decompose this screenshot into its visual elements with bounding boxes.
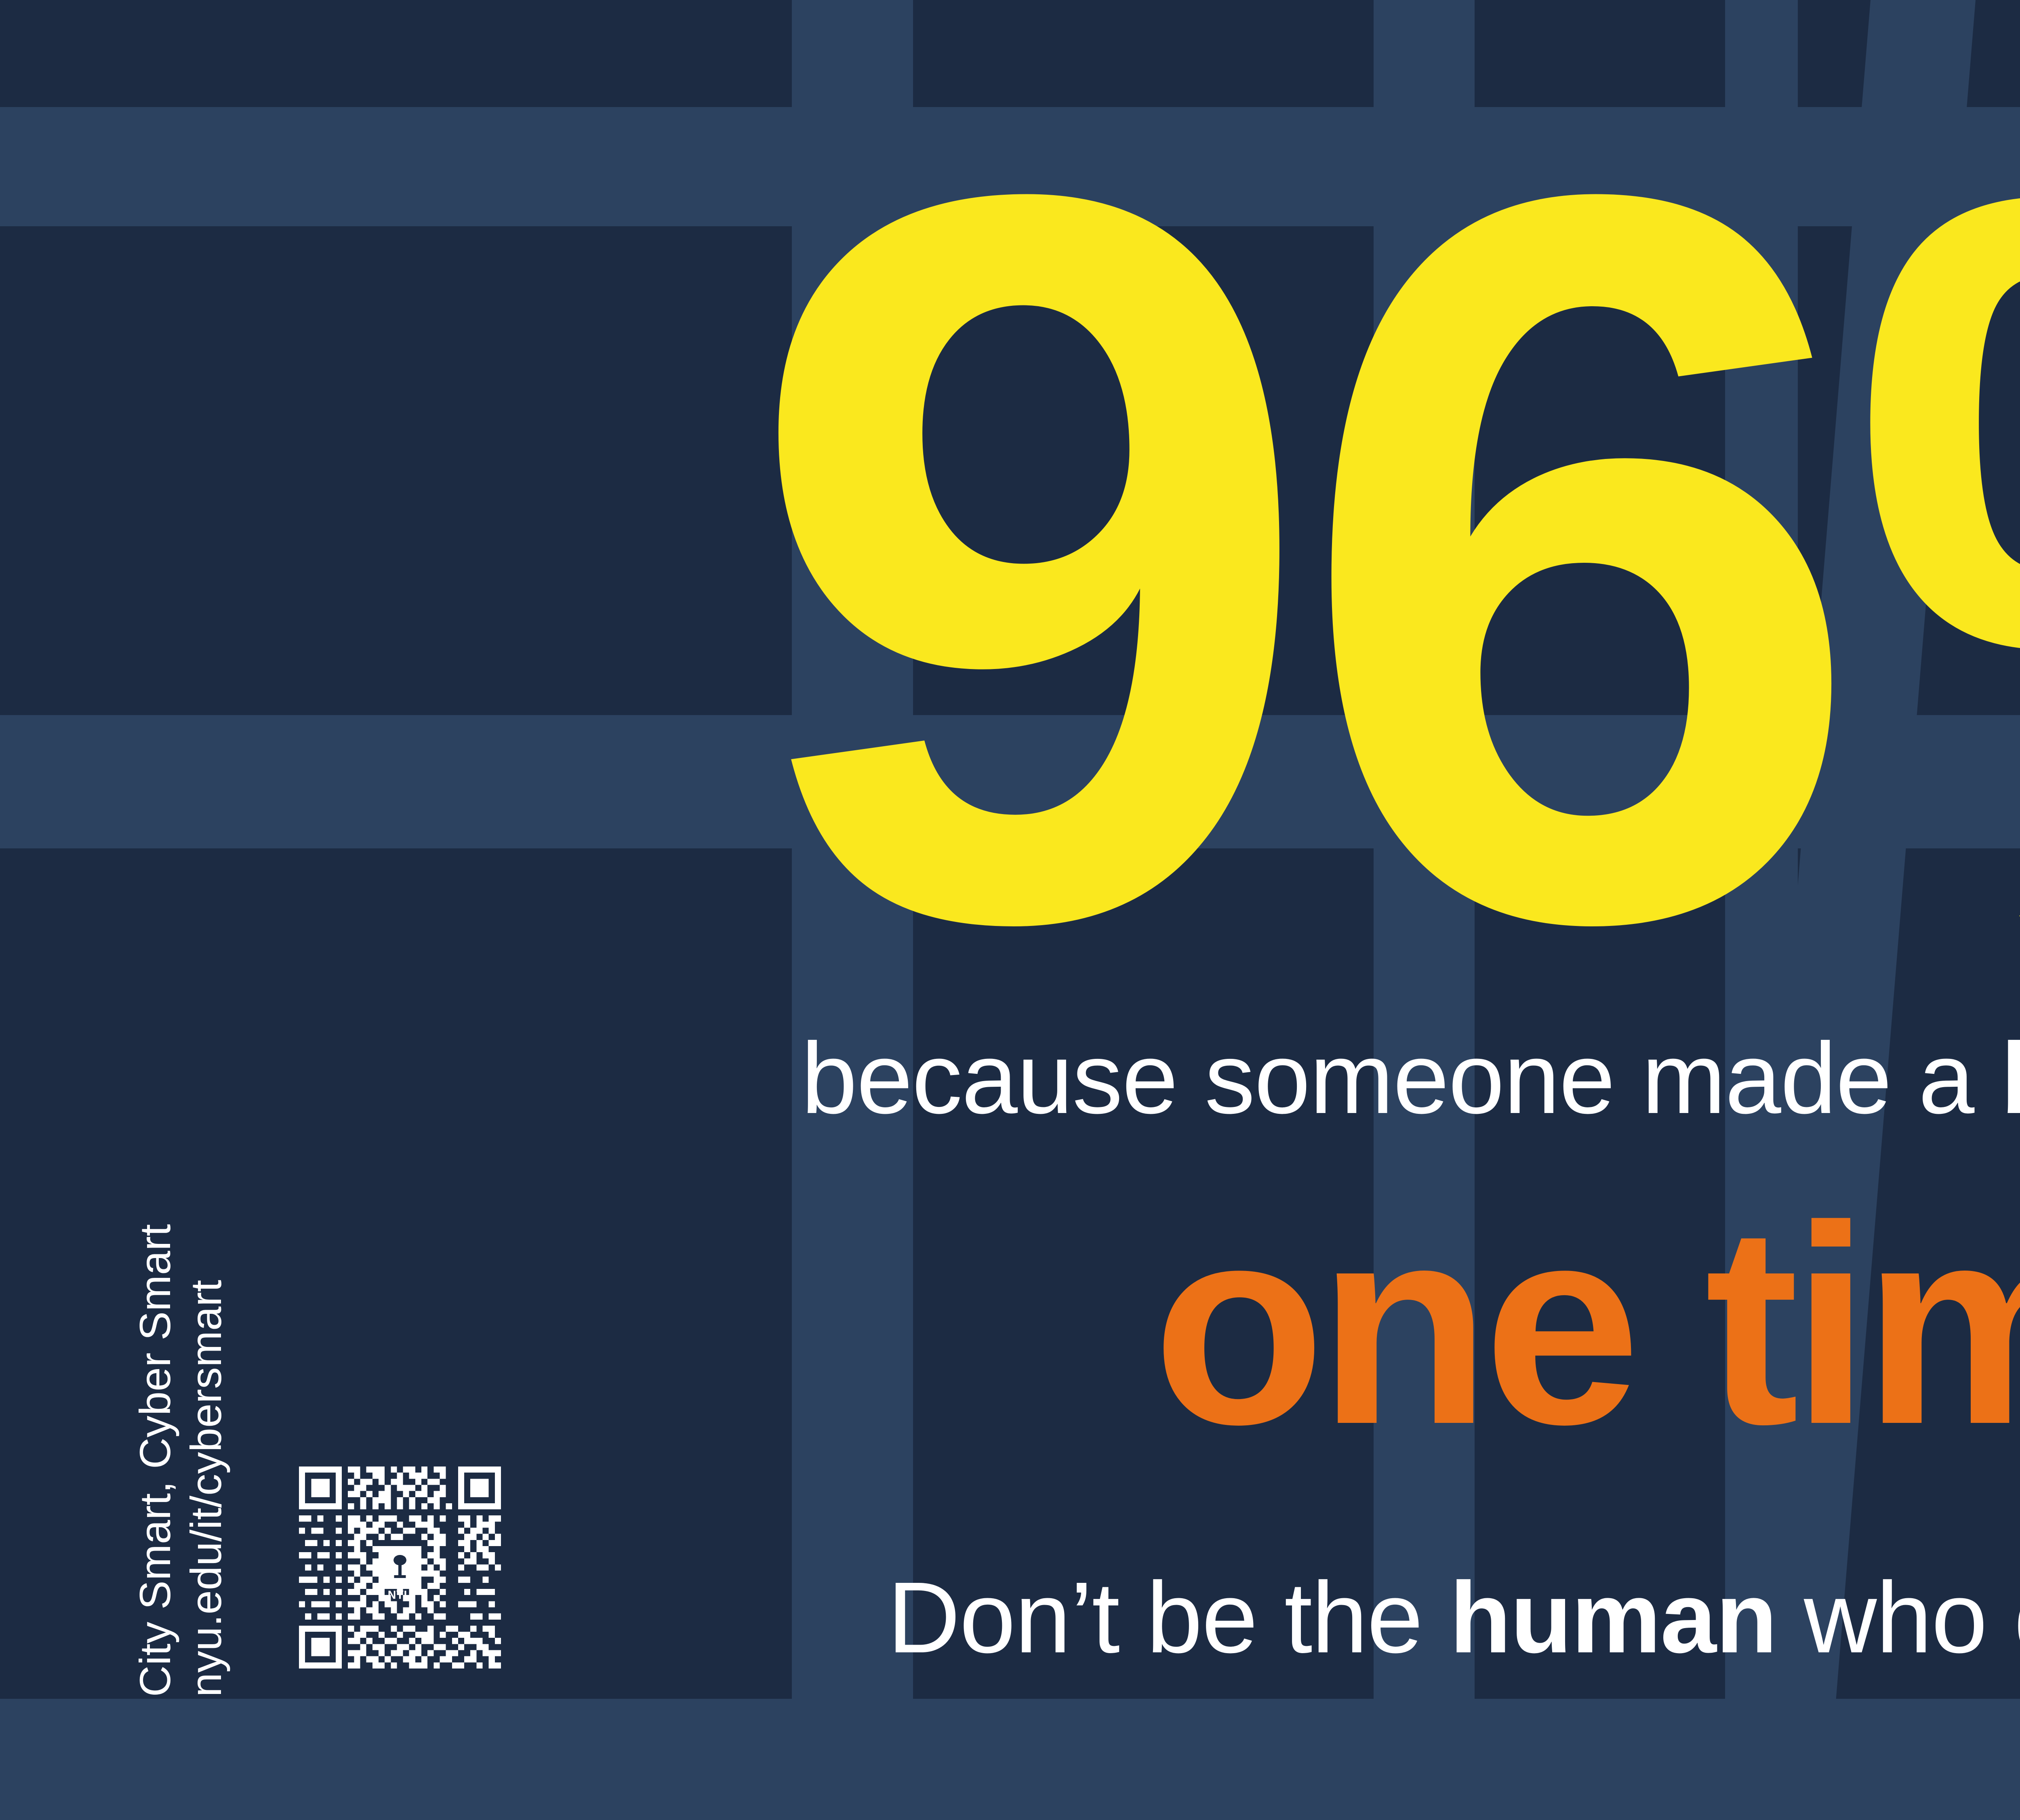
emphasis-one-time: one time (630, 1184, 2020, 1467)
footer-url-line[interactable]: nyu.edu/it/cybersmart (184, 1280, 228, 1697)
footer-credits: City Smart, Cyber Smart nyu.edu/it/cyber… (133, 1002, 228, 1697)
subline-bold: bad decision (2001, 1022, 2020, 1134)
subline-bad-decision: because someone made a bad decision (630, 1020, 2020, 1136)
subline-prefix: because someone made a (801, 1022, 2001, 1134)
footer-campaign-line: City Smart, Cyber Smart (133, 1224, 177, 1697)
qr-code-graphic[interactable]: NYU (299, 1467, 501, 1669)
qr-logo-label: NYU (388, 1589, 412, 1601)
tagline-part2: who got (1776, 1561, 2020, 1674)
stat-percentage: 96% (630, 113, 2020, 1003)
tagline-dont-be-hacked: Don’t be the human who got hacked (630, 1559, 2020, 1675)
tagline-bold-human: human (1450, 1561, 1776, 1674)
tagline-part1: Don’t be the (887, 1561, 1450, 1674)
qr-code[interactable]: NYU (299, 1467, 501, 1669)
